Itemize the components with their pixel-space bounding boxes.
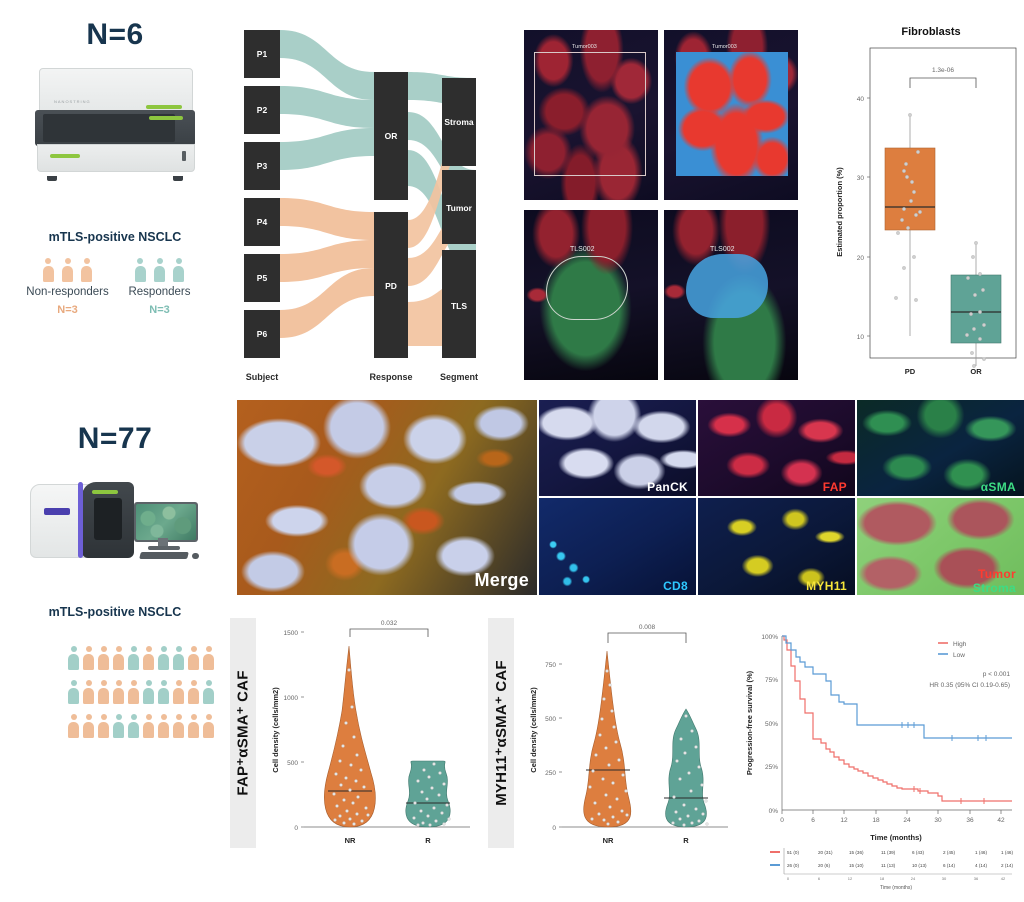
person-icon (142, 646, 155, 670)
cohort-bottom-disease-label: mTLS-positive NSCLC (0, 605, 230, 619)
km-annotation-hr: HR 0.35 (95% CI 0.19-0.65) (929, 682, 1010, 689)
km-xlabel: Time (months) (870, 833, 922, 842)
km-ytick-50: 50% (765, 721, 778, 728)
violin2-y-axis: 0 250 500 750 (545, 662, 562, 832)
mif-tumor-label: Tumor (978, 567, 1016, 581)
sankey-segment-nodes: Stroma Tumor TLS (442, 78, 476, 358)
violin1-significance-bracket: 0.032 (350, 620, 428, 637)
instrument-top-housing: NANOSTRING (39, 68, 193, 116)
km-risk-xtick-12: 12 (848, 876, 853, 881)
cohort-panel-bottom: N=77 mTLS-positive NSCLC (0, 400, 230, 456)
person-icon (67, 646, 80, 670)
sankey-node-p2-label: P2 (257, 105, 268, 115)
person-icon (142, 714, 155, 738)
sankey-node-p5-label: P5 (257, 273, 268, 283)
person-icon (82, 714, 95, 738)
km-curve-high (782, 636, 1012, 801)
roi-caption-tumor003-mask: Tumor003 (712, 44, 737, 50)
cohort-top-disease-label: mTLS-positive NSCLC (0, 230, 230, 244)
km-risk-high-7: 1 (46) (1001, 850, 1013, 855)
boxplot-pvalue: 1.3e-06 (932, 67, 954, 74)
violin2-xtick-r: R (683, 836, 689, 845)
violin2-ytick-500: 500 (545, 716, 556, 723)
person-icon (172, 714, 185, 738)
km-risk-xtick-0: 0 (787, 876, 790, 881)
boxplot-xtick-or: OR (970, 367, 982, 376)
sankey-node-or-label: OR (385, 131, 398, 141)
km-ytick-100: 100% (761, 634, 778, 641)
person-icon (172, 258, 185, 282)
violin1-pvalue: 0.032 (381, 620, 398, 627)
sankey-diagram: P1 P2 P3 P4 P5 P6 OR PD Stroma Tumor TLS… (232, 24, 492, 384)
violin2-ytick-250: 250 (545, 770, 556, 777)
boxplot-ytick-30: 30 (857, 175, 865, 182)
km-risk-high-0: 51 (0) (787, 850, 799, 855)
person-icon (112, 680, 125, 704)
person-icon (134, 258, 147, 282)
sankey-subject-nodes: P1 P2 P3 P4 P5 P6 (244, 30, 280, 358)
km-legend: High Low (938, 641, 967, 659)
violin2-group-nr[interactable] (584, 651, 631, 827)
group-responders: Responders N=3 (112, 258, 207, 316)
fap-asma-panel-strip: FAP⁺αSMA⁺ CAF (230, 618, 256, 848)
km-xtick-6: 6 (811, 817, 815, 824)
roi-caption-tls002: TLS002 (570, 246, 595, 253)
myh11-asma-violin-panel: MYH11⁺αSMA⁺ CAF 0 250 500 750 0.008 (486, 615, 736, 880)
km-risk-xtick-36: 36 (974, 876, 979, 881)
mif-myh11-image[interactable]: MYH11 (698, 498, 855, 595)
non-responders-count: N=3 (20, 304, 115, 316)
km-risk-low-3: 11 (13) (881, 863, 896, 868)
instrument-brand-text: NANOSTRING (54, 99, 91, 104)
roi-mask-overlay (676, 52, 788, 176)
sankey-node-pd-label: PD (385, 281, 397, 291)
violin1-ylabel: Cell density (cells/mm2) (271, 687, 280, 773)
violin1-ytick-500: 500 (287, 760, 298, 767)
sankey-node-p6-label: P6 (257, 329, 268, 339)
instrument-base-light (50, 154, 80, 158)
km-risk-high-1: 20 (31) (818, 850, 833, 855)
violin2-significance-bracket: 0.008 (608, 624, 686, 643)
non-responders-label: Non-responders (20, 286, 115, 298)
km-risk-table: 51 (0) 20 (31) 15 (36) 11 (39) 6 (43) 2 … (770, 848, 1013, 891)
km-xtick-36: 36 (966, 817, 974, 824)
violin1-group-nr[interactable] (324, 646, 375, 827)
km-y-ticks: 100% 75% 50% 25% 0% (761, 634, 778, 815)
km-risk-low-5: 6 (14) (943, 863, 955, 868)
patient-icon-row (66, 714, 226, 748)
roi-image-tumor-raw[interactable]: Tumor003 (524, 30, 658, 200)
km-risk-xtick-24: 24 (911, 876, 916, 881)
boxplot-title: Fibroblasts (838, 26, 1024, 38)
monitor-screen-image (136, 504, 196, 540)
sankey-node-stroma-label: Stroma (444, 117, 474, 127)
km-risk-high-5: 2 (45) (943, 850, 955, 855)
patient-icon-row (66, 646, 226, 680)
scanner-display (44, 508, 70, 515)
mif-merge-image[interactable]: Merge (237, 400, 537, 595)
person-icon (153, 258, 166, 282)
roi-image-tls-mask[interactable]: TLS002 (664, 210, 798, 380)
boxplot-ytick-40: 40 (857, 96, 865, 103)
fibroblast-boxplot-panel: Fibroblasts 40 30 20 10 1.3e-06 (828, 26, 1024, 394)
instrument-dark-panel (35, 110, 195, 146)
km-risk-low-1: 20 (6) (818, 863, 830, 868)
km-risk-high-2: 15 (36) (849, 850, 864, 855)
scanner-status-light (92, 490, 118, 494)
violin1-y-axis: 0 500 1000 1500 (284, 630, 304, 832)
mif-fap-image[interactable]: FAP (698, 400, 855, 496)
mif-asma-image[interactable]: αSMA (857, 400, 1024, 496)
instrument-foot-right (173, 176, 183, 181)
instrument-indicator (149, 116, 183, 120)
km-ytick-75: 75% (765, 677, 778, 684)
responders-label: Responders (112, 286, 207, 298)
patient-icon-row (66, 680, 226, 714)
roi-caption-tls002-mask: TLS002 (710, 246, 735, 253)
boxplot-ylabel: Estimated proportion (%) (835, 167, 844, 257)
instrument-status-light (146, 105, 182, 109)
km-risk-table-xlabel: Time (months) (880, 885, 912, 891)
instrument-base (37, 144, 195, 172)
person-icon (97, 680, 110, 704)
km-ylabel: Progression-free survival (%) (745, 670, 754, 775)
roi-caption-tumor003: Tumor003 (572, 44, 597, 50)
km-xtick-18: 18 (872, 817, 880, 824)
mif-tumor-stroma-image[interactable]: Tumor Stroma (857, 498, 1024, 595)
myh11-asma-panel-label: MYH11⁺αSMA⁺ CAF (492, 660, 510, 806)
km-xtick-42: 42 (997, 817, 1005, 824)
mif-stroma-label: Stroma (973, 581, 1016, 595)
person-icon (172, 646, 185, 670)
myh11-asma-panel-strip: MYH11⁺αSMA⁺ CAF (488, 618, 514, 848)
keyboard-icon (139, 552, 189, 559)
person-icon (187, 680, 200, 704)
person-icon (157, 646, 170, 670)
person-icon (112, 646, 125, 670)
boxplot-ytick-20: 20 (857, 255, 865, 262)
sankey-axis-subject: Subject (240, 372, 284, 382)
scanner-instrument-illustration (30, 476, 210, 568)
sankey-axis-segment: Segment (432, 372, 486, 382)
km-risk-low-6: 4 (14) (975, 863, 987, 868)
mif-panck-label: PanCK (647, 480, 688, 494)
km-risk-xtick-18: 18 (880, 876, 885, 881)
sankey-link-p4-pd (280, 198, 374, 240)
sankey-node-p3-label: P3 (257, 161, 268, 171)
boxplot-ytick-10: 10 (857, 334, 865, 341)
km-xtick-30: 30 (934, 817, 942, 824)
person-icon (202, 680, 215, 704)
person-icon (127, 680, 140, 704)
mouse-icon (192, 553, 199, 559)
km-ytick-0: 0% (769, 808, 779, 815)
violin1-ytick-1000: 1000 (284, 695, 299, 702)
person-icon (202, 646, 215, 670)
km-risk-row-high: 51 (0) 20 (31) 15 (36) 11 (39) 6 (43) 2 … (787, 850, 1013, 855)
mif-image-panel: Merge PanCK FAP αSMA CD8 MYH11 Tumor Str… (237, 400, 1024, 595)
violin2-group-r[interactable] (664, 709, 709, 827)
responder-icons (112, 258, 207, 282)
sankey-response-nodes: OR PD (374, 72, 408, 358)
person-icon (82, 680, 95, 704)
km-risk-row-low: 26 (0) 20 (6) 15 (10) 11 (13) 10 (13) 6 … (787, 863, 1013, 868)
km-legend-label-low: Low (953, 652, 965, 659)
person-icon (97, 646, 110, 670)
monitor-base (148, 546, 180, 550)
scanner-window (94, 498, 122, 540)
person-icon (80, 258, 93, 282)
group-non-responders: Non-responders N=3 (20, 258, 115, 316)
responders-count: N=3 (112, 304, 207, 316)
sequencer-instrument-illustration: NANOSTRING (35, 62, 195, 182)
sankey-node-tumor-label: Tumor (446, 203, 473, 213)
non-responder-icons (20, 258, 115, 282)
km-xtick-24: 24 (903, 817, 911, 824)
km-annotation-pvalue: p < 0.001 (983, 671, 1011, 678)
person-icon (67, 680, 80, 704)
instrument-foot-left (47, 176, 57, 181)
person-icon (172, 680, 185, 704)
violin2-xtick-nr: NR (603, 836, 614, 845)
person-icon (112, 714, 125, 738)
person-icon (127, 714, 140, 738)
person-icon (67, 714, 80, 738)
km-x-ticks: 0 6 12 18 24 30 36 42 (780, 810, 1005, 824)
km-risk-low-0: 26 (0) (787, 863, 799, 868)
violin1-xtick-r: R (425, 836, 431, 845)
scanner-accent-strip (78, 482, 83, 558)
mif-cd8-label: CD8 (663, 579, 688, 593)
km-risk-low-4: 10 (13) (912, 863, 927, 868)
person-icon (202, 714, 215, 738)
sankey-node-tls-label: TLS (451, 301, 467, 311)
sankey-axis-response: Response (364, 372, 418, 382)
km-risk-high-6: 1 (46) (975, 850, 987, 855)
km-risk-high-4: 6 (43) (912, 850, 924, 855)
km-risk-xtick-6: 6 (818, 876, 821, 881)
boxplot-y-axis: 40 30 20 10 (857, 96, 870, 341)
monitor (134, 502, 198, 542)
person-icon (97, 714, 110, 738)
roi-image-tumor-mask[interactable]: Tumor003 (664, 30, 798, 200)
roi-mask-polygon (686, 254, 768, 318)
mif-fap-label: FAP (823, 480, 847, 494)
pfs-km-panel: 100% 75% 50% 25% 0% 0 6 12 18 24 30 36 4… (738, 618, 1024, 893)
fap-asma-panel-label: FAP⁺αSMA⁺ CAF (234, 670, 252, 795)
cohort-top-n: N=6 (0, 18, 230, 52)
instrument-handle (182, 151, 186, 161)
violin1-ytick-1500: 1500 (284, 630, 299, 637)
roi-micrograph-grid: Tumor003 Tumor003 TLS002 TLS002 (524, 30, 810, 390)
roi-outline-box (534, 52, 646, 176)
km-xtick-12: 12 (840, 817, 848, 824)
person-icon (157, 714, 170, 738)
mif-cd8-image[interactable]: CD8 (539, 498, 696, 595)
person-icon (157, 680, 170, 704)
km-legend-label-high: High (953, 641, 967, 648)
sankey-link-p3-or (280, 128, 374, 170)
violin2-ylabel: Cell density (cells/mm2) (529, 687, 538, 773)
km-risk-low-7: 2 (14) (1001, 863, 1013, 868)
person-icon (187, 714, 200, 738)
mif-panck-image[interactable]: PanCK (539, 400, 696, 496)
km-risk-xtick-30: 30 (942, 876, 947, 881)
violin1-xtick-nr: NR (345, 836, 356, 845)
patient-icon-grid (66, 646, 226, 748)
fap-asma-violin-panel: FAP⁺αSMA⁺ CAF 0 500 1000 1500 0.032 (228, 615, 478, 880)
person-icon (42, 258, 55, 282)
person-icon (142, 680, 155, 704)
roi-polygon-outline (546, 256, 628, 320)
mif-myh11-label: MYH11 (806, 579, 847, 593)
roi-image-tls-raw[interactable]: TLS002 (524, 210, 658, 380)
cohort-panel-top: N=6 NANOSTRING mTLS-positive NSCLC (0, 0, 230, 52)
violin1-group-r[interactable] (406, 761, 451, 827)
km-risk-low-2: 15 (10) (849, 863, 864, 868)
boxplot-xtick-pd: PD (905, 367, 916, 376)
violin2-pvalue: 0.008 (639, 624, 656, 631)
sankey-node-p1-label: P1 (257, 49, 268, 59)
km-ytick-25: 25% (765, 764, 778, 771)
cohort-bottom-n: N=77 (0, 422, 230, 456)
violin2-ytick-0: 0 (552, 825, 556, 832)
km-risk-xticks: 0 6 12 18 24 30 36 42 (787, 876, 1006, 881)
km-risk-high-3: 11 (39) (881, 850, 896, 855)
km-risk-xtick-42: 42 (1001, 876, 1006, 881)
km-xtick-0: 0 (780, 817, 784, 824)
person-icon (61, 258, 74, 282)
mif-asma-label: αSMA (981, 480, 1016, 494)
violin2-ytick-750: 750 (545, 662, 556, 669)
person-icon (127, 646, 140, 670)
sankey-node-p4-label: P4 (257, 217, 268, 227)
person-icon (82, 646, 95, 670)
mif-merge-label: Merge (474, 570, 529, 591)
person-icon (187, 646, 200, 670)
violin1-ytick-0: 0 (294, 825, 298, 832)
